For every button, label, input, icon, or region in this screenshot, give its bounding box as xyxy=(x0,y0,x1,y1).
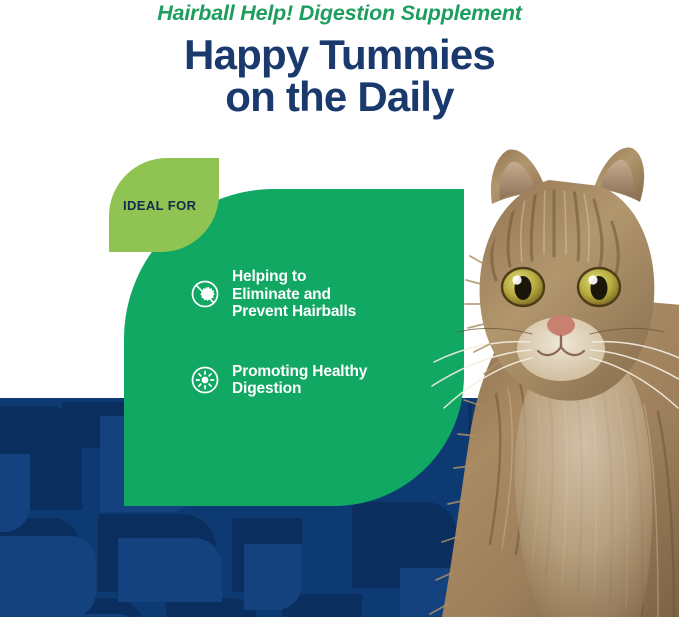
benefit-item-hairballs: Helping to Eliminate and Prevent Hairbal… xyxy=(190,268,420,321)
benefit-list: Helping to Eliminate and Prevent Hairbal… xyxy=(190,268,420,398)
page-title: Happy Tummies on the Daily xyxy=(0,25,679,120)
benefit-line: Digestion xyxy=(232,380,301,397)
product-feature-banner: IDEAL FOR Helping to Eliminate and Preve… xyxy=(0,0,679,617)
benefit-line: Prevent Hairballs xyxy=(232,303,356,320)
eyebrow-text: Hairball Help! Digestion Supplement xyxy=(0,0,679,25)
benefit-line: Helping to xyxy=(232,268,306,285)
headline-line-2: on the Daily xyxy=(0,76,679,119)
benefit-item-digestion-label: Promoting Healthy Digestion xyxy=(232,363,367,398)
sun-burst-icon xyxy=(190,365,220,395)
headline-line-1: Happy Tummies xyxy=(0,34,679,77)
ideal-for-badge-label: IDEAL FOR xyxy=(109,198,196,213)
headline-block: Hairball Help! Digestion Supplement Happ… xyxy=(0,0,679,119)
benefit-line: Eliminate and xyxy=(232,286,331,303)
benefit-line: Promoting Healthy xyxy=(232,363,367,380)
no-hairball-icon xyxy=(190,279,220,309)
benefit-item-digestion: Promoting Healthy Digestion xyxy=(190,363,420,398)
benefit-item-hairballs-label: Helping to Eliminate and Prevent Hairbal… xyxy=(232,268,356,321)
